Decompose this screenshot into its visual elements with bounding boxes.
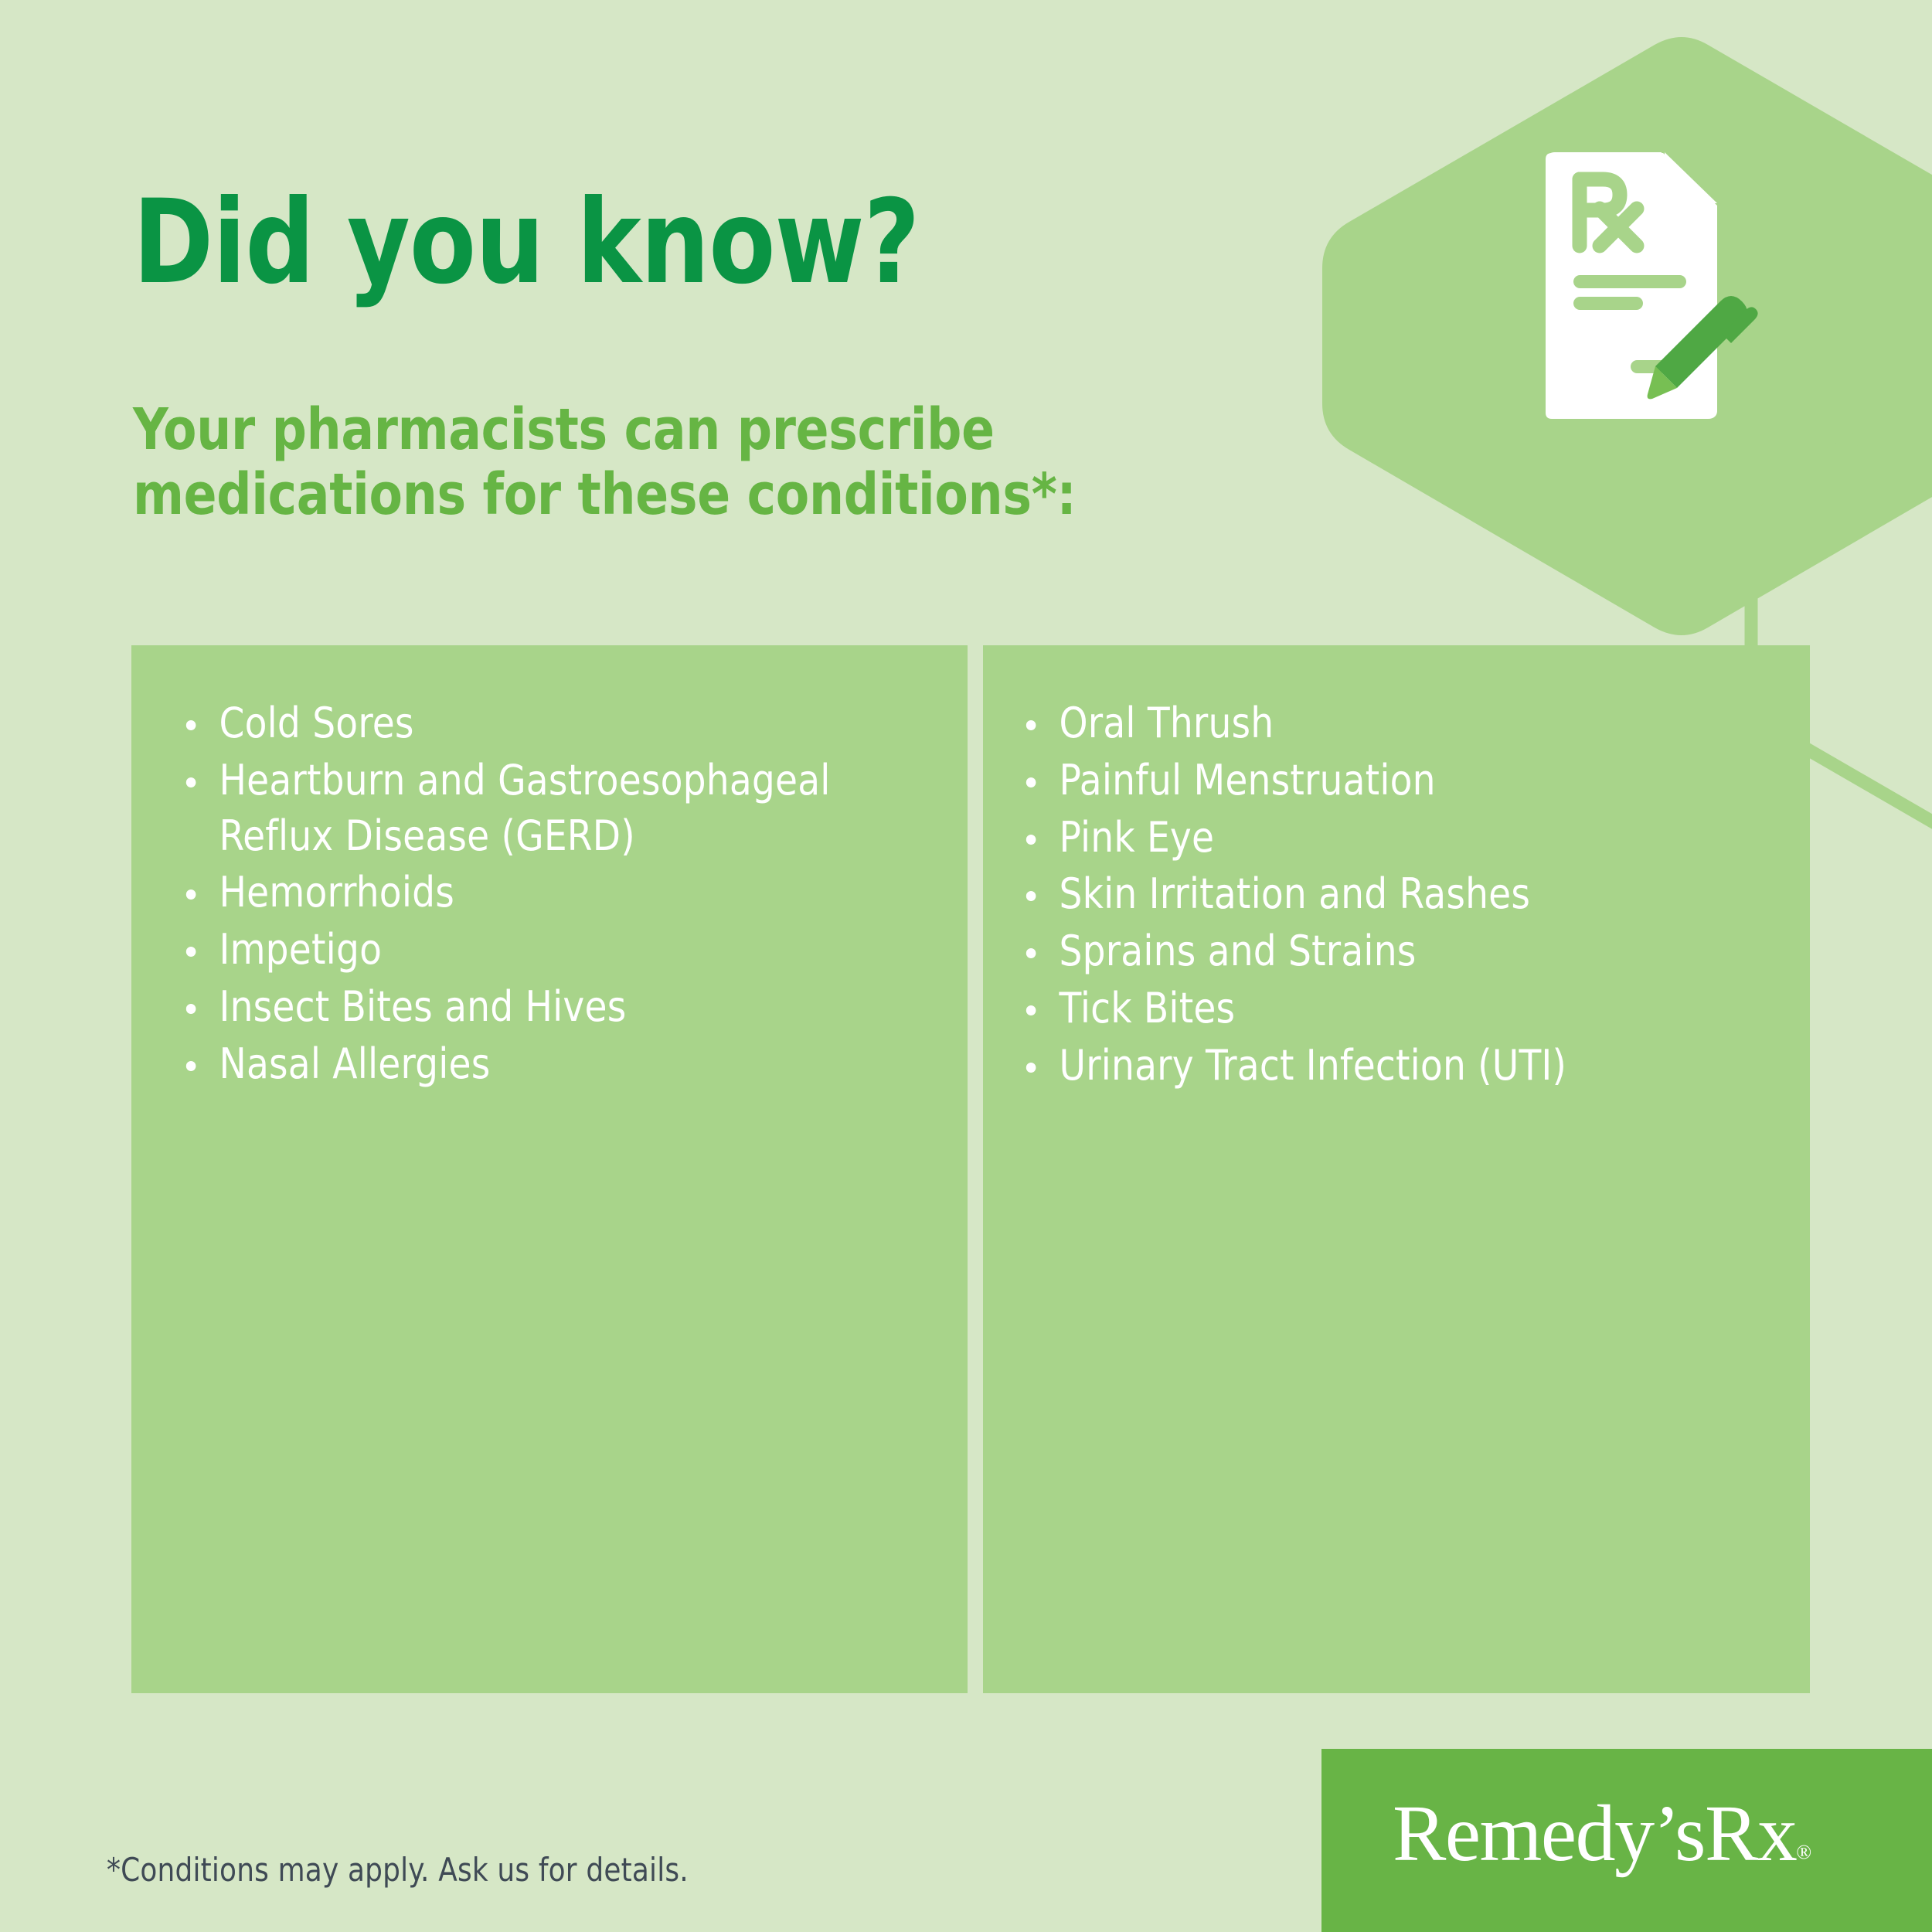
subtitle-line-2: medications for these conditions*:	[133, 463, 1234, 528]
conditions-panel-left: Cold Sores Heartburn and Gastroesophagea…	[131, 645, 968, 1693]
folded-corner	[1665, 152, 1717, 203]
list-item: Impetigo	[182, 922, 914, 978]
subtitle-line-1: Your pharmacists can prescribe	[133, 398, 1234, 463]
poster-canvas: Did you know? Your pharmacists can presc…	[0, 0, 1932, 1932]
list-item: Pink Eye	[1022, 810, 1757, 866]
page-subtitle: Your pharmacists can prescribe medicatio…	[133, 398, 1234, 527]
list-item: Cold Sores	[182, 696, 914, 751]
list-item: Painful Menstruation	[1022, 753, 1757, 808]
list-item: Heartburn and Gastroesophageal Reflux Di…	[182, 753, 914, 864]
list-item: Insect Bites and Hives	[182, 979, 914, 1035]
prescription-document-icon	[1546, 147, 1917, 471]
page-title: Did you know?	[133, 185, 919, 301]
list-item: Skin Irritation and Rashes	[1022, 866, 1757, 922]
list-item: Hemorrhoids	[182, 865, 914, 920]
conditions-panel-right: Oral Thrush Painful Menstruation Pink Ey…	[983, 645, 1810, 1693]
list-item: Urinary Tract Infection (UTI)	[1022, 1038, 1757, 1094]
conditions-list-left: Cold Sores Heartburn and Gastroesophagea…	[162, 696, 937, 1092]
list-item: Tick Bites	[1022, 981, 1757, 1036]
brand-logo-bar: Remedy’sRx®	[1321, 1749, 1932, 1932]
footnote-disclaimer: *Conditions may apply. Ask us for detail…	[107, 1851, 689, 1889]
brand-wordmark-text: Remedy’sRx	[1393, 1789, 1796, 1878]
conditions-list-right: Oral Thrush Painful Menstruation Pink Ey…	[1014, 696, 1779, 1094]
list-item: Oral Thrush	[1022, 696, 1757, 751]
brand-wordmark: Remedy’sRx®	[1393, 1794, 1811, 1874]
registered-trademark-icon: ®	[1796, 1841, 1811, 1863]
list-item: Sprains and Strains	[1022, 923, 1757, 979]
list-item: Nasal Allergies	[182, 1036, 914, 1092]
